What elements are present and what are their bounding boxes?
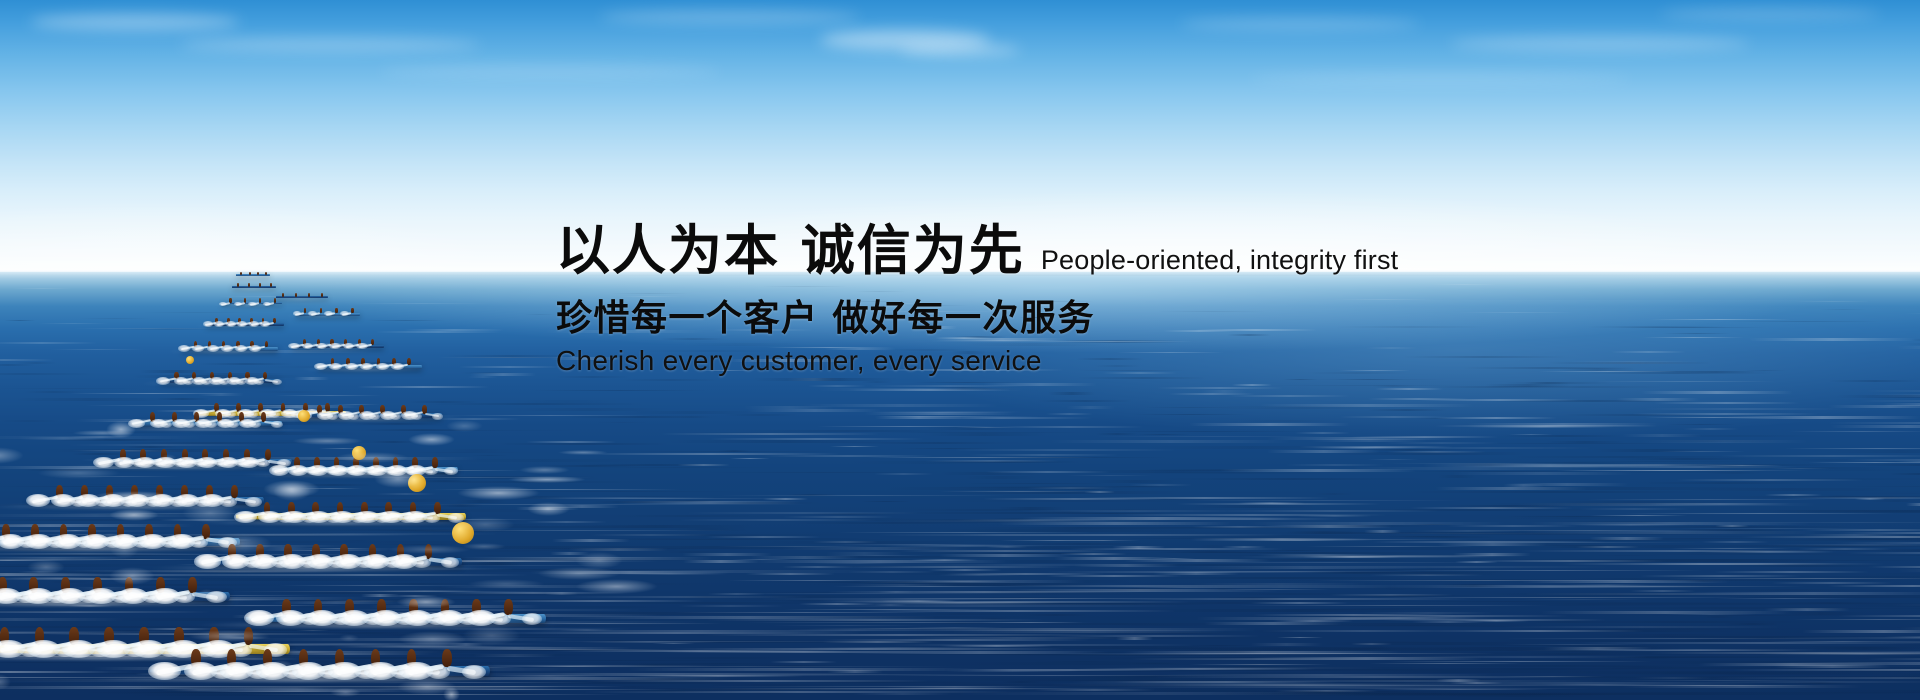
oar-splash: [335, 554, 361, 568]
oar-splash: [249, 321, 259, 327]
rower: [335, 308, 338, 313]
water-foam: [98, 533, 123, 546]
water-foam: [537, 567, 621, 580]
oar-splash: [260, 321, 270, 327]
oar-splash: [248, 302, 256, 306]
oar-splash: [376, 363, 389, 370]
oar-splash: [355, 511, 379, 524]
oar-splash: [379, 511, 403, 524]
water-foam: [188, 630, 270, 642]
oar-splash: [168, 534, 195, 549]
water-foam: [268, 660, 294, 673]
rower: [442, 649, 452, 667]
oar-splash: [197, 457, 218, 468]
oar-splash: [178, 345, 190, 352]
rower: [265, 449, 271, 460]
oar-splash: [214, 321, 224, 327]
rower: [351, 308, 354, 313]
water-foam: [339, 634, 359, 642]
water-foam: [335, 452, 409, 463]
oar-splash: [324, 311, 333, 316]
oar-splash: [184, 662, 218, 680]
oar-splash: [391, 554, 417, 568]
subline-english: Cherish every customer, every service: [556, 345, 1556, 377]
oar-splash: [192, 377, 206, 385]
water-foam: [527, 502, 570, 516]
oar-splash: [340, 311, 349, 316]
headline-english: People-oriented, integrity first: [1041, 245, 1399, 279]
boat-wake: [267, 298, 332, 300]
water-foam: [197, 589, 216, 600]
rower: [240, 272, 242, 275]
oar-splash: [114, 457, 135, 468]
oar-splash: [209, 377, 223, 385]
marker-buoy: [186, 356, 194, 364]
oar-splash: [339, 610, 369, 626]
oar-splash: [207, 345, 219, 352]
oar-splash: [238, 457, 259, 468]
oar-splash: [221, 345, 233, 352]
oar-splash: [272, 379, 282, 385]
oar-splash: [218, 457, 239, 468]
cloud: [1660, 8, 1880, 20]
oar-splash: [227, 377, 241, 385]
oar-splash: [328, 662, 362, 680]
oar-splash: [371, 610, 401, 626]
oar-splash: [466, 610, 496, 626]
oar-splash: [359, 411, 375, 420]
oar-splash: [245, 497, 262, 507]
water-foam: [508, 476, 586, 483]
water-foam: [558, 450, 608, 455]
rower: [295, 293, 297, 297]
water-foam: [456, 517, 515, 532]
oar-splash: [176, 457, 197, 468]
water-foam: [519, 466, 570, 474]
water-foam: [398, 631, 467, 647]
oar-splash: [288, 465, 308, 476]
oar-splash: [432, 413, 443, 420]
cloud: [380, 66, 720, 77]
rower: [270, 283, 272, 287]
headline-row: 以人为本 诚信为先 People-oriented, integrity fir…: [556, 222, 1556, 279]
water-foam: [160, 454, 177, 463]
oar-splash: [347, 465, 367, 476]
water-foam: [374, 470, 422, 488]
water-foam: [263, 480, 320, 498]
water-foam: [462, 626, 521, 645]
cloud: [1450, 36, 1750, 51]
oar-splash: [135, 457, 156, 468]
water-foam: [109, 509, 159, 521]
water-foam: [0, 674, 11, 690]
oar-splash: [249, 345, 261, 352]
rower: [265, 272, 267, 275]
cloud: [900, 44, 1020, 56]
oar-splash: [192, 345, 204, 352]
subline-chinese: 珍惜每一个客户 做好每一次服务: [556, 299, 1556, 339]
rower: [308, 293, 310, 297]
water-foam: [462, 543, 506, 550]
oar-splash: [462, 665, 486, 679]
water-foam: [388, 545, 471, 554]
oar-splash: [203, 321, 213, 327]
oar-splash: [380, 411, 396, 420]
rower: [304, 308, 307, 313]
oar-splash: [194, 554, 220, 568]
cloud: [180, 38, 480, 51]
water-foam: [37, 467, 120, 479]
oar-splash: [55, 588, 85, 604]
oar-splash: [54, 534, 81, 549]
water-foam: [457, 486, 540, 500]
oar-splash: [404, 511, 428, 524]
oar-splash: [172, 419, 189, 428]
rower: [259, 298, 261, 302]
boat-wake: [230, 276, 273, 278]
slogan-block: 以人为本 诚信为先 People-oriented, integrity fir…: [556, 222, 1556, 377]
water-foam: [106, 421, 136, 438]
headline-chinese: 以人为本 诚信为先: [556, 222, 1025, 279]
oar-splash: [244, 610, 274, 626]
rower: [257, 272, 259, 275]
oar-splash: [307, 511, 331, 524]
water-foam: [575, 579, 658, 594]
oar-splash: [399, 662, 433, 680]
water-foam: [27, 560, 65, 574]
cloud: [30, 14, 240, 30]
oar-splash: [139, 534, 166, 549]
oar-splash: [269, 465, 289, 476]
water-foam: [205, 533, 272, 554]
rower: [321, 293, 323, 297]
rower: [231, 485, 238, 498]
water-foam: [408, 433, 455, 446]
oar-splash: [195, 419, 212, 428]
water-foam: [467, 579, 545, 589]
rower: [504, 599, 513, 615]
oar-splash: [292, 662, 326, 680]
rower: [249, 272, 251, 275]
water-foam: [292, 437, 363, 445]
oar-splash: [25, 534, 52, 549]
oar-splash: [234, 302, 242, 306]
oar-splash: [345, 363, 358, 370]
water-foam: [446, 420, 483, 432]
oar-splash: [317, 411, 333, 420]
boat-wake: [224, 288, 279, 290]
cloud: [1180, 18, 1420, 30]
oar-splash: [363, 554, 389, 568]
oar-splash: [27, 640, 60, 658]
water-foam: [397, 679, 457, 695]
rower: [188, 577, 197, 593]
oar-splash: [338, 411, 354, 420]
oar-splash: [97, 640, 130, 658]
cloud: [600, 10, 860, 24]
oar-splash: [62, 640, 95, 658]
cloud: [1250, 74, 1630, 84]
oar-splash: [263, 302, 271, 306]
oar-splash: [250, 554, 276, 568]
oar-splash: [441, 557, 460, 568]
marker-buoy: [298, 410, 310, 422]
rower: [432, 457, 438, 468]
banner-hero: 以人为本 诚信为先 People-oriented, integrity fir…: [0, 0, 1920, 700]
oar-splash: [328, 465, 348, 476]
oar-splash: [156, 377, 170, 385]
oar-splash: [308, 465, 328, 476]
water-foam: [287, 556, 316, 566]
water-foam: [0, 447, 24, 464]
oar-splash: [174, 377, 188, 385]
oar-splash: [364, 662, 398, 680]
rower: [265, 341, 269, 348]
oar-splash: [222, 554, 248, 568]
oar-splash: [237, 321, 247, 327]
water-foam: [330, 688, 361, 697]
oar-splash: [245, 377, 259, 385]
oar-splash: [148, 662, 182, 680]
oar-splash: [220, 662, 254, 680]
oar-splash: [282, 511, 306, 524]
water-foam: [92, 491, 175, 502]
rower: [259, 283, 261, 287]
oar-splash: [235, 345, 247, 352]
oar-splash: [132, 640, 165, 658]
water-foam: [396, 596, 456, 608]
rower: [248, 283, 250, 287]
oar-splash: [401, 411, 417, 420]
water-foam: [182, 503, 238, 523]
oar-splash: [219, 302, 227, 306]
oar-splash: [226, 321, 236, 327]
water-foam: [109, 567, 155, 585]
oar-splash: [93, 457, 114, 468]
